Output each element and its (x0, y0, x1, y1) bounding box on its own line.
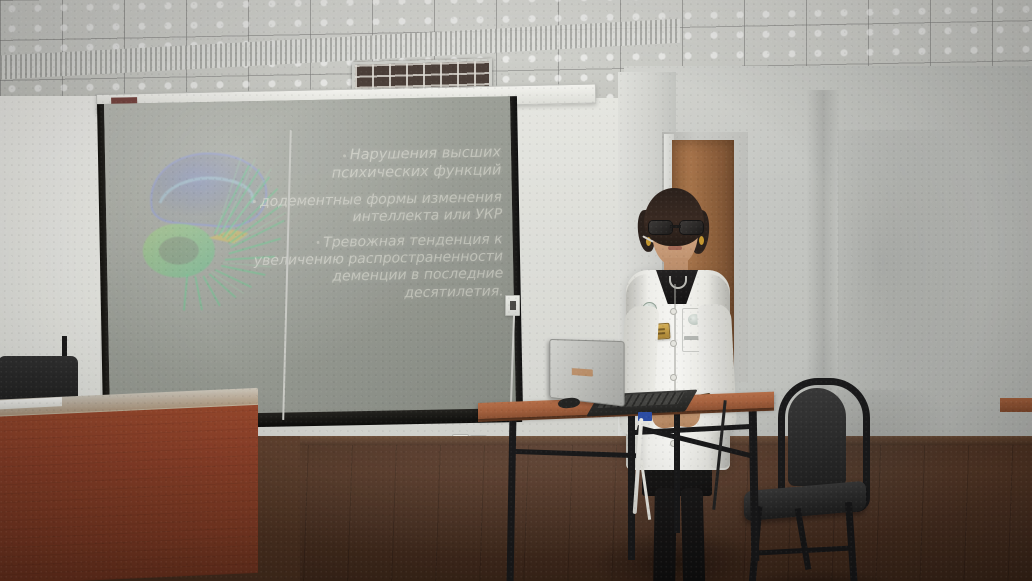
projection-screen: Нарушения высших психических функций дод… (104, 96, 518, 434)
earring-icon (699, 236, 704, 245)
sunglasses-icon (648, 220, 704, 234)
slide-bullet-1: Нарушения высших психических функций (223, 144, 502, 185)
bullet-dot-icon (253, 201, 256, 204)
bullet-dot-icon (316, 241, 319, 244)
presenter-hair (644, 188, 704, 246)
lecture-room-photo: Нарушения высших психических функций дод… (0, 0, 1032, 581)
table-crossbrace (512, 449, 636, 458)
wooden-desk[interactable] (0, 400, 260, 581)
light-switch[interactable] (505, 295, 520, 316)
bullet-dot-icon (343, 154, 346, 157)
table-leg (749, 409, 760, 561)
chair-backrest-cushion (788, 388, 846, 486)
switch-rocker-icon (510, 301, 516, 310)
far-table-edge (1000, 398, 1032, 412)
coat-button (670, 308, 677, 315)
desk-wood-grain (0, 401, 258, 581)
slide-bullet-2: додементные формы изменения интеллекта и… (224, 189, 503, 229)
computer-mouse[interactable] (558, 397, 581, 409)
chair-leg (795, 508, 812, 570)
slide-text-block: Нарушения высших психических функций дод… (223, 144, 504, 305)
laptop[interactable] (540, 340, 690, 420)
slide-line: Тревожная тенденция к (323, 231, 503, 250)
sunglasses-lens-right (679, 220, 704, 235)
sunglasses-bridge (670, 225, 681, 228)
slide-bullet-3: Тревожная тенденция к увеличению распрос… (225, 231, 504, 306)
slide-line: Нарушения высших (350, 144, 502, 163)
laptop-logo-icon (572, 368, 593, 377)
presenter-mouth (668, 246, 682, 250)
laptop-lid (549, 339, 624, 407)
projected-slide: Нарушения высших психических функций дод… (104, 96, 516, 420)
presenter-table[interactable] (478, 403, 778, 581)
sunglasses-lens-left (648, 220, 673, 235)
table-leg (507, 419, 517, 581)
